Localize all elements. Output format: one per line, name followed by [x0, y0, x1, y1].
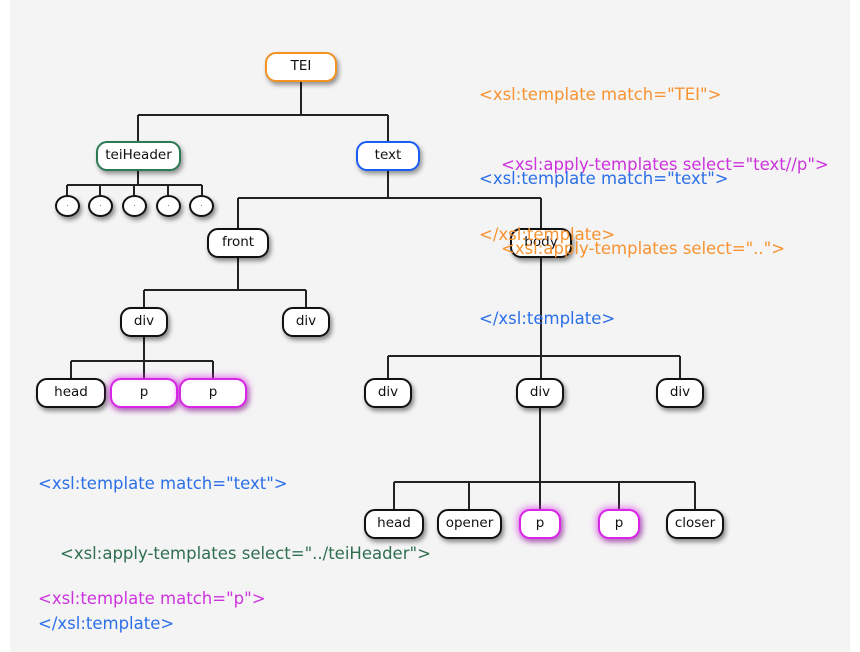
tree-node-body-div-1[interactable]: div	[364, 378, 412, 408]
tree-node-header-leaf-2[interactable]: ·	[88, 195, 113, 217]
tree-node-label: head	[54, 386, 88, 400]
tree-node-label: opener	[446, 517, 494, 531]
tree-node-label: front	[222, 236, 254, 250]
tree-node-label: p	[615, 517, 624, 531]
tree-node-header-leaf-3[interactable]: ·	[122, 195, 147, 217]
tree-node-label: div	[134, 315, 154, 329]
tree-node-opener[interactable]: opener	[437, 509, 502, 539]
tree-node-p-front-1[interactable]: p	[110, 378, 178, 408]
tree-node-header-leaf-1[interactable]: ·	[55, 195, 80, 217]
tree-node-label: teiHeader	[105, 149, 172, 163]
tree-node-tei[interactable]: TEI	[265, 52, 337, 82]
tree-node-label: div	[670, 386, 690, 400]
code-block-template-p-ancestor: <xsl:template match="p"> <xsl:apply-temp…	[38, 540, 442, 652]
tree-node-label: ·	[167, 203, 169, 210]
tree-node-label: div	[296, 315, 316, 329]
tree-node-body-div-3[interactable]: div	[656, 378, 704, 408]
tree-node-label: text	[375, 149, 402, 163]
tree-node-header-leaf-4[interactable]: ·	[156, 195, 181, 217]
tree-node-p-body-1[interactable]: p	[519, 509, 561, 539]
tree-node-label: div	[378, 386, 398, 400]
code-line-open: <xsl:template match="text">	[38, 472, 431, 495]
tree-node-front-div-1[interactable]: div	[120, 307, 168, 337]
tree-node-label: p	[536, 517, 545, 531]
tree-node-front[interactable]: front	[207, 228, 269, 258]
tree-node-p-front-2[interactable]: p	[179, 378, 247, 408]
code-line-close: </xsl:template>	[479, 307, 785, 330]
tree-node-label: ·	[99, 203, 101, 210]
tree-node-label: p	[209, 386, 218, 400]
tree-node-header-leaf-5[interactable]: ·	[189, 195, 214, 217]
tree-node-head-front[interactable]: head	[36, 378, 106, 408]
tree-node-label: div	[530, 386, 550, 400]
tree-node-front-div-2[interactable]: div	[282, 307, 330, 337]
tree-node-label: ·	[200, 203, 202, 210]
tree-node-text[interactable]: text	[356, 141, 420, 171]
tree-node-closer[interactable]: closer	[666, 509, 724, 539]
code-block-template-text-parent: <xsl:template match="text"> <xsl:apply-t…	[479, 120, 785, 378]
tree-node-p-body-2[interactable]: p	[598, 509, 640, 539]
code-line-open: <xsl:template match="p">	[38, 587, 442, 610]
tree-node-label: p	[140, 386, 149, 400]
tree-node-body-div-2[interactable]: div	[516, 378, 564, 408]
left-margin	[0, 0, 10, 652]
tree-node-teiheader[interactable]: teiHeader	[96, 141, 181, 171]
tree-node-label: TEI	[291, 60, 312, 74]
code-line-open: <xsl:template match="text">	[479, 167, 785, 190]
diagram-canvas: TEI teiHeader text · · · · · front body …	[0, 0, 860, 652]
code-line-open: <xsl:template match="TEI">	[479, 83, 829, 106]
right-margin	[850, 0, 860, 652]
code-line-apply: <xsl:apply-templates select="..">	[479, 237, 785, 260]
tree-node-label: ·	[66, 203, 68, 210]
tree-node-label: ·	[133, 203, 135, 210]
tree-node-label: closer	[675, 517, 715, 531]
